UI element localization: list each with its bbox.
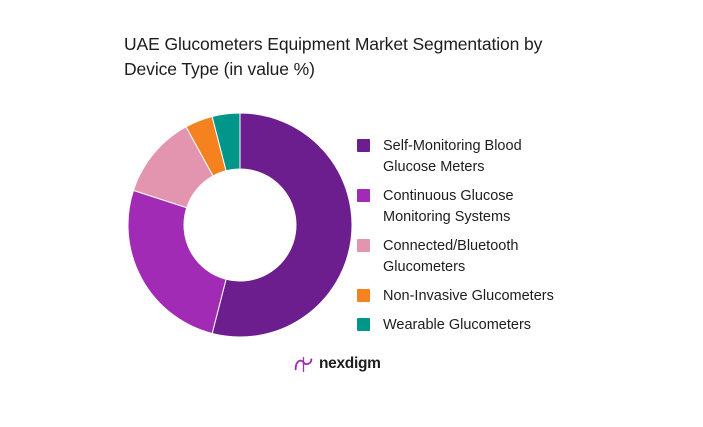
- legend-swatch-icon: [357, 318, 370, 331]
- chart-legend: Self-Monitoring Blood Glucose MetersCont…: [357, 136, 657, 344]
- legend-swatch-icon: [357, 139, 370, 152]
- donut-chart-svg: [128, 113, 352, 337]
- legend-item-label: Continuous Glucose Monitoring Systems: [383, 186, 514, 228]
- legend-item-label: Connected/Bluetooth Glucometers: [383, 236, 518, 278]
- legend-item[interactable]: Continuous Glucose Monitoring Systems: [357, 186, 657, 228]
- legend-item[interactable]: Non-Invasive Glucometers: [357, 286, 657, 307]
- legend-item-label: Self-Monitoring Blood Glucose Meters: [383, 136, 522, 178]
- legend-item[interactable]: Wearable Glucometers: [357, 315, 657, 336]
- nexdigm-logo-icon: [293, 354, 314, 375]
- legend-swatch-icon: [357, 239, 370, 252]
- donut-slice-group: [128, 113, 352, 337]
- legend-item-label: Wearable Glucometers: [383, 315, 531, 336]
- chart-title: UAE Glucometers Equipment Market Segment…: [124, 32, 624, 82]
- legend-item-label: Non-Invasive Glucometers: [383, 286, 554, 307]
- legend-item[interactable]: Connected/Bluetooth Glucometers: [357, 236, 657, 278]
- brand-name: nexdigm: [319, 355, 381, 373]
- donut-chart: [128, 113, 352, 337]
- chart-figure: UAE Glucometers Equipment Market Segment…: [0, 0, 703, 427]
- brand-logo: nexdigm: [293, 352, 381, 376]
- donut-slice[interactable]: [128, 190, 226, 333]
- legend-swatch-icon: [357, 289, 370, 302]
- legend-item[interactable]: Self-Monitoring Blood Glucose Meters: [357, 136, 657, 178]
- legend-swatch-icon: [357, 189, 370, 202]
